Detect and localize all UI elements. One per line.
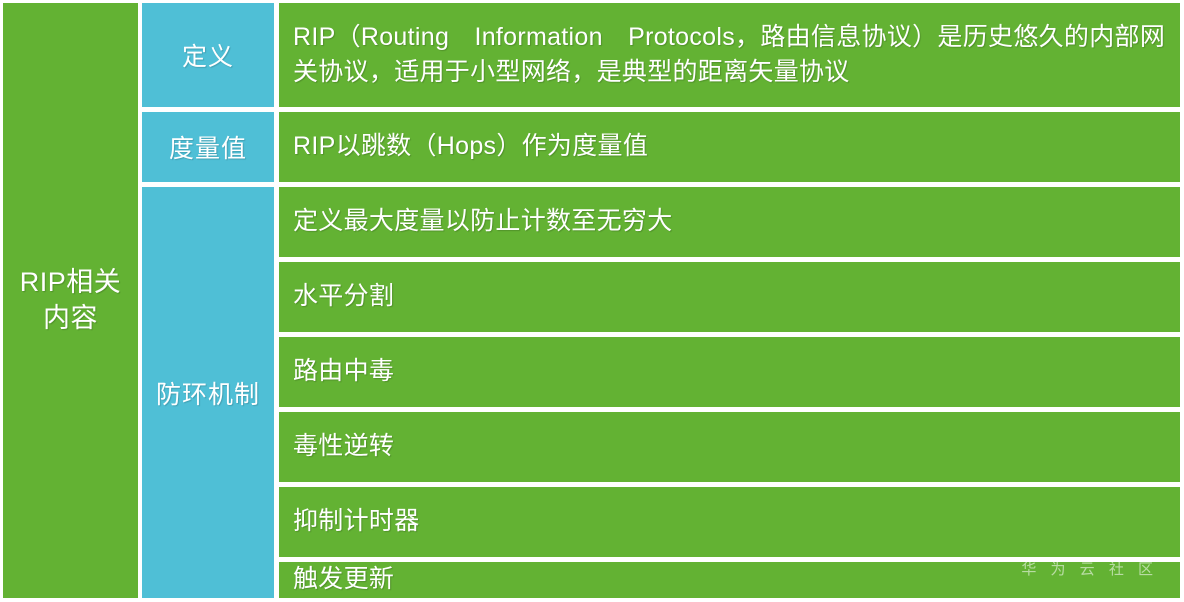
category-label: RIP相关 内容: [20, 265, 122, 335]
content-cell-loop-item-6: 触发更新 华 为 云 社 区: [279, 562, 1180, 598]
category-label-line-2: 内容: [43, 303, 98, 333]
subcategory-cell-metric: 度量值: [142, 112, 274, 182]
definition-text: RIP（Routing Information Protocols，路由信息协议…: [293, 20, 1166, 91]
content-cell-loop-item-5: 抑制计时器: [279, 487, 1180, 557]
content-cell-loop-item-2: 水平分割: [279, 262, 1180, 332]
content-cell-metric: RIP以跳数（Hops）作为度量值: [279, 112, 1180, 182]
watermark-label: 华 为 云 社 区: [1021, 562, 1158, 580]
content-cell-loop-item-3: 路由中毒: [279, 337, 1180, 407]
subcategory-cell-loop-prevention: 防环机制: [142, 187, 274, 598]
category-label-line-1: RIP相关: [20, 267, 122, 297]
subcategory-cell-definition: 定义: [142, 3, 274, 107]
subcategory-column: 定义 度量值 防环机制: [142, 3, 274, 598]
content-cell-definition: RIP（Routing Information Protocols，路由信息协议…: [279, 3, 1180, 107]
rip-summary-table: RIP相关 内容 定义 度量值 防环机制 RIP（Routing Informa…: [0, 0, 1184, 602]
loop-item-6-label: 触发更新: [293, 562, 394, 598]
content-cell-loop-item-4: 毒性逆转: [279, 412, 1180, 482]
content-column: RIP（Routing Information Protocols，路由信息协议…: [279, 3, 1180, 598]
content-cell-loop-item-1: 定义最大度量以防止计数至无穷大: [279, 187, 1180, 257]
category-cell-rip: RIP相关 内容: [3, 3, 138, 598]
